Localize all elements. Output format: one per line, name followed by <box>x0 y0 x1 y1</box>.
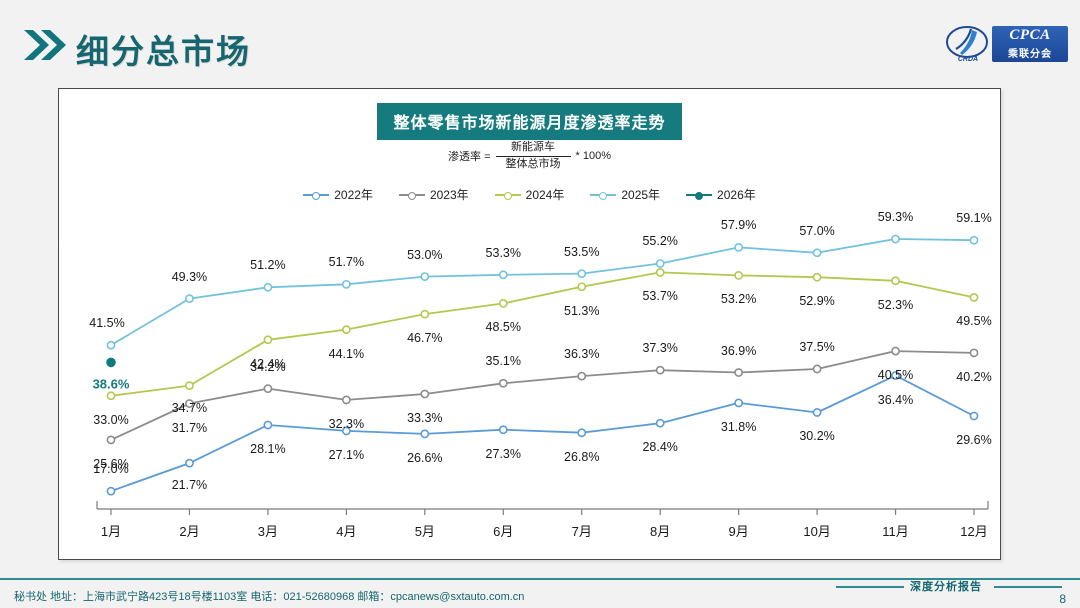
legend-item-2024年[interactable]: 2024年 <box>495 186 565 203</box>
data-label-2024年-9月: 53.2% <box>721 292 756 306</box>
data-point-2023年-12月[interactable] <box>970 349 977 356</box>
x-axis-label-8月: 8月 <box>650 521 670 540</box>
data-point-2023年-5月[interactable] <box>421 390 428 397</box>
data-label-2023年-11月: 40.5% <box>878 368 913 382</box>
formula-lhs: 渗透率 = <box>448 148 490 164</box>
series-line-2022年 <box>111 376 974 492</box>
data-label-2023年-8月: 37.3% <box>642 341 677 355</box>
legend-swatch-2025年 <box>590 194 616 196</box>
data-label-2024年-12月: 49.5% <box>956 314 991 328</box>
data-point-2022年-10月[interactable] <box>813 409 820 416</box>
data-point-2024年-11月[interactable] <box>892 277 899 284</box>
legend-label-2025年: 2025年 <box>621 186 660 203</box>
x-axis-label-10月: 10月 <box>803 521 830 540</box>
data-label-2024年-2月: 34.7% <box>172 401 207 415</box>
data-label-2025年-6月: 53.3% <box>486 246 521 260</box>
data-point-2025年-12月[interactable] <box>970 237 977 244</box>
data-point-2024年-6月[interactable] <box>500 300 507 307</box>
data-point-2025年-3月[interactable] <box>264 284 271 291</box>
data-label-2023年-1月: 25.6% <box>93 457 128 471</box>
data-point-2024年-4月[interactable] <box>343 326 350 333</box>
data-point-2024年-9月[interactable] <box>735 272 742 279</box>
legend-swatch-2023年 <box>399 194 425 196</box>
legend-item-2022年[interactable]: 2022年 <box>303 186 373 203</box>
data-point-2025年-11月[interactable] <box>892 235 899 242</box>
data-point-2024年-12月[interactable] <box>970 294 977 301</box>
data-point-2025年-7月[interactable] <box>578 270 585 277</box>
data-label-2024年-4月: 44.1% <box>329 347 364 361</box>
data-label-2022年-8月: 28.4% <box>642 440 677 454</box>
data-label-2025年-1月: 41.5% <box>89 316 124 330</box>
chart-title-wrap: 整体零售市场新能源月度渗透率走势 <box>59 103 1000 140</box>
legend-marker-2026年 <box>695 192 703 200</box>
data-label-2023年-12月: 40.2% <box>956 370 991 384</box>
data-point-2022年-3月[interactable] <box>264 421 271 428</box>
data-point-2022年-12月[interactable] <box>970 412 977 419</box>
data-label-2025年-3月: 51.2% <box>250 258 285 272</box>
data-point-2024年-7月[interactable] <box>578 283 585 290</box>
data-label-2024年-10月: 52.9% <box>799 294 834 308</box>
data-label-2025年-4月: 51.7% <box>329 255 364 269</box>
formula-numerator: 新能源车 <box>501 141 565 156</box>
data-point-2022年-1月[interactable] <box>107 488 114 495</box>
series-line-2023年 <box>111 351 974 440</box>
slide-header: 细分总市场 CRDA CPCA 乘联分会 <box>0 0 1080 84</box>
x-axis-label-1月: 1月 <box>101 521 121 540</box>
cpca-logo-mark-caption: CRDA <box>948 56 988 63</box>
data-label-2025年-5月: 53.0% <box>407 248 442 262</box>
data-point-2023年-3月[interactable] <box>264 385 271 392</box>
data-label-2025年-8月: 55.2% <box>642 234 677 248</box>
legend-marker-2025年 <box>599 192 607 200</box>
data-point-2023年-10月[interactable] <box>813 365 820 372</box>
data-point-2025年-6月[interactable] <box>500 271 507 278</box>
data-point-2024年-8月[interactable] <box>657 269 664 276</box>
data-point-2022年-9月[interactable] <box>735 399 742 406</box>
data-point-2024年-3月[interactable] <box>264 336 271 343</box>
data-label-2022年-5月: 26.6% <box>407 451 442 465</box>
legend-item-2025年[interactable]: 2025年 <box>590 186 660 203</box>
data-point-2026年-1月[interactable] <box>107 358 115 366</box>
data-point-2024年-10月[interactable] <box>813 274 820 281</box>
data-label-2023年-7月: 36.3% <box>564 347 599 361</box>
data-label-2023年-5月: 33.3% <box>407 411 442 425</box>
data-label-2025年-7月: 53.5% <box>564 245 599 259</box>
data-label-2022年-7月: 26.8% <box>564 450 599 464</box>
slide-page: 细分总市场 CRDA CPCA 乘联分会 整体零售市场新能源月度渗透率走势 渗透… <box>0 0 1080 608</box>
data-point-2025年-9月[interactable] <box>735 244 742 251</box>
chart-panel: 整体零售市场新能源月度渗透率走势 渗透率 = 新能源车 整体总市场 * 100%… <box>58 88 1001 560</box>
legend-label-2024年: 2024年 <box>526 186 565 203</box>
data-label-2025年-12月: 59.1% <box>956 211 991 225</box>
legend-swatch-2022年 <box>303 194 329 196</box>
cpca-logo-mark-caption-wrap: CRDA <box>946 25 990 63</box>
line-chart-svg <box>59 207 1000 559</box>
legend-marker-2022年 <box>312 192 320 200</box>
data-label-2024年-1月: 33.0% <box>93 413 128 427</box>
chart-title: 整体零售市场新能源月度渗透率走势 <box>377 103 681 140</box>
footer-rule-right <box>994 586 1062 588</box>
data-label-2025年-11月: 59.3% <box>878 210 913 224</box>
page-title: 细分总市场 <box>76 25 251 73</box>
page-number: 8 <box>1059 592 1066 606</box>
data-point-2024年-1月[interactable] <box>107 392 114 399</box>
data-point-2025年-8月[interactable] <box>657 260 664 267</box>
data-label-2024年-7月: 51.3% <box>564 304 599 318</box>
data-point-2025年-2月[interactable] <box>186 295 193 302</box>
data-label-2025年-9月: 57.9% <box>721 218 756 232</box>
data-label-2022年-11月: 36.4% <box>878 393 913 407</box>
cpca-logo-text: CPCA 乘联分会 <box>992 26 1068 62</box>
x-axis-label-3月: 3月 <box>258 521 278 540</box>
data-point-2025年-5月[interactable] <box>421 273 428 280</box>
footer-contact: 秘书处 地址：上海市武宁路423号18号楼1103室 电话：021-526809… <box>14 588 524 604</box>
chart-legend: 2022年2023年2024年2025年2026年 <box>59 186 1000 203</box>
legend-marker-2024年 <box>504 192 512 200</box>
legend-label-2023年: 2023年 <box>430 186 469 203</box>
data-label-2022年-12月: 29.6% <box>956 433 991 447</box>
data-label-2022年-3月: 28.1% <box>250 442 285 456</box>
x-axis-label-7月: 7月 <box>572 521 592 540</box>
x-axis-label-6月: 6月 <box>493 521 513 540</box>
x-axis-label-9月: 9月 <box>729 521 749 540</box>
data-label-2026年-1月: 38.6% <box>93 377 130 392</box>
data-point-2023年-6月[interactable] <box>500 380 507 387</box>
data-label-2025年-10月: 57.0% <box>799 224 834 238</box>
data-label-2022年-4月: 27.1% <box>329 448 364 462</box>
data-label-2024年-5月: 46.7% <box>407 331 442 345</box>
data-label-2022年-9月: 31.8% <box>721 420 756 434</box>
data-label-2023年-2月: 31.7% <box>172 421 207 435</box>
data-point-2024年-5月[interactable] <box>421 311 428 318</box>
data-point-2023年-7月[interactable] <box>578 373 585 380</box>
data-point-2025年-4月[interactable] <box>343 281 350 288</box>
legend-marker-2023年 <box>408 192 416 200</box>
legend-swatch-2024年 <box>495 194 521 196</box>
data-label-2025年-2月: 49.3% <box>172 270 207 284</box>
data-label-2024年-6月: 48.5% <box>486 320 521 334</box>
cpca-logo: CRDA CPCA 乘联分会 <box>946 25 1068 63</box>
data-label-2024年-3月: 42.4% <box>250 357 285 371</box>
data-label-2022年-10月: 30.2% <box>799 429 834 443</box>
cpca-logo-name: CPCA <box>992 27 1068 44</box>
data-point-2024年-2月[interactable] <box>186 382 193 389</box>
data-label-2022年-6月: 27.3% <box>486 447 521 461</box>
x-axis-label-11月: 11月 <box>882 521 909 540</box>
data-label-2023年-4月: 32.3% <box>329 417 364 431</box>
data-label-2023年-9月: 36.9% <box>721 344 756 358</box>
formula-rhs: * 100% <box>576 150 611 162</box>
data-point-2022年-7月[interactable] <box>578 429 585 436</box>
penetration-formula: 渗透率 = 新能源车 整体总市场 * 100% <box>59 141 1000 172</box>
legend-item-2023年[interactable]: 2023年 <box>399 186 469 203</box>
data-label-2023年-6月: 35.1% <box>486 354 521 368</box>
series-line-2025年 <box>111 239 974 345</box>
legend-item-2026年[interactable]: 2026年 <box>686 186 756 203</box>
data-point-2023年-4月[interactable] <box>343 396 350 403</box>
legend-swatch-2026年 <box>686 194 712 196</box>
data-point-2023年-9月[interactable] <box>735 369 742 376</box>
footer-report-label: 深度分析报告 <box>910 578 982 594</box>
double-chevron-right-icon <box>22 28 68 62</box>
data-label-2024年-11月: 52.3% <box>878 298 913 312</box>
data-point-2023年-11月[interactable] <box>892 347 899 354</box>
data-point-2023年-8月[interactable] <box>657 367 664 374</box>
x-axis-label-12月: 12月 <box>960 521 987 540</box>
formula-denominator: 整体总市场 <box>496 156 571 172</box>
x-axis-label-4月: 4月 <box>336 521 356 540</box>
data-point-2025年-10月[interactable] <box>813 249 820 256</box>
data-point-2025年-1月[interactable] <box>107 342 114 349</box>
data-point-2022年-5月[interactable] <box>421 430 428 437</box>
data-label-2024年-8月: 53.7% <box>642 289 677 303</box>
legend-label-2026年: 2026年 <box>717 186 756 203</box>
data-point-2022年-6月[interactable] <box>500 426 507 433</box>
footer-right-group: 深度分析报告 <box>836 578 1066 608</box>
data-label-2022年-2月: 21.7% <box>172 478 207 492</box>
data-label-2023年-10月: 37.5% <box>799 340 834 354</box>
data-point-2022年-2月[interactable] <box>186 460 193 467</box>
data-point-2023年-1月[interactable] <box>107 436 114 443</box>
chart-plot-area: 17.0%21.7%28.1%27.1%26.6%27.3%26.8%28.4%… <box>59 207 1000 559</box>
x-axis-label-2月: 2月 <box>179 521 199 540</box>
x-axis-label-5月: 5月 <box>415 521 435 540</box>
legend-label-2022年: 2022年 <box>334 186 373 203</box>
data-point-2022年-8月[interactable] <box>657 420 664 427</box>
cpca-logo-name-cn: 乘联分会 <box>992 45 1068 60</box>
footer-rule-left <box>836 586 904 588</box>
